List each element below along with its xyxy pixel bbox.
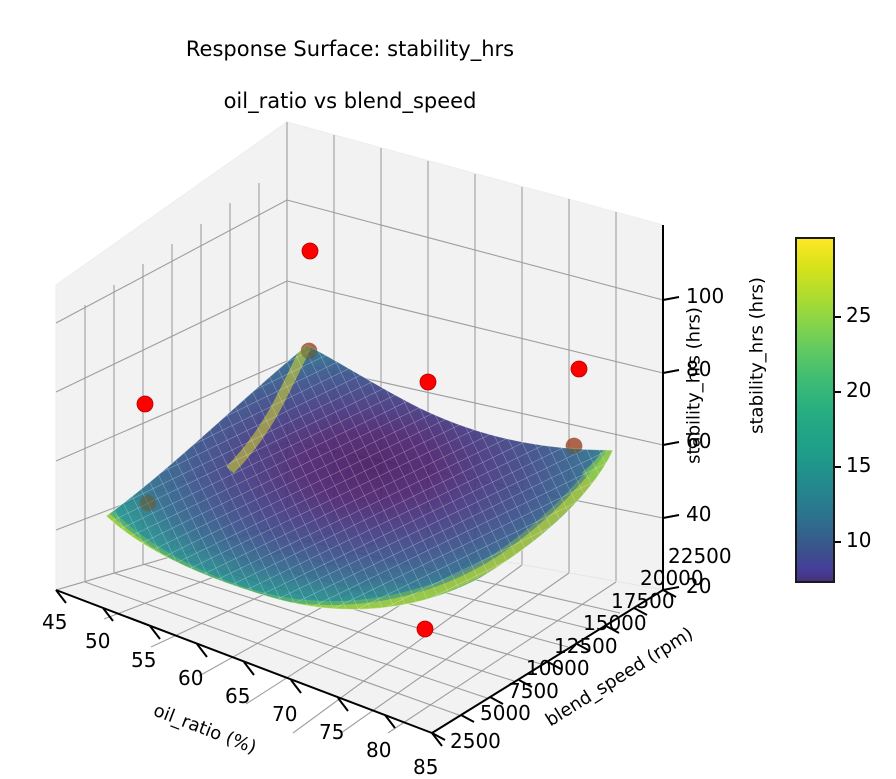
y-tick-label-7500: 7500 — [508, 681, 559, 701]
colorbar-tick-mark — [835, 391, 841, 393]
colorbar-ticks: 10152025 — [835, 237, 895, 583]
colorbar[interactable]: 10152025 — [795, 237, 835, 583]
y-tick-label-15000: 15000 — [583, 613, 647, 633]
colorbar-tick-label: 10 — [846, 529, 871, 551]
y-tick-label-2500: 2500 — [450, 731, 501, 751]
y-tick-label-5000: 5000 — [480, 703, 531, 723]
y-tick-label-20000: 20000 — [640, 568, 704, 588]
colorbar-tick-label: 20 — [846, 379, 871, 401]
y-tick-labels: 2500 5000 7500 10000 12500 15000 17500 2… — [0, 0, 700, 775]
y-tick-label-17500: 17500 — [611, 591, 675, 611]
y-tick-label-10000: 10000 — [526, 658, 590, 678]
colorbar-gradient — [795, 237, 835, 583]
y-tick-label-12500: 12500 — [554, 636, 618, 656]
colorbar-tick-label: 15 — [846, 454, 871, 476]
colorbar-label-text: stability_hrs (hrs) — [747, 251, 768, 461]
colorbar-tick-mark — [835, 466, 841, 468]
colorbar-tick-mark — [835, 316, 841, 318]
y-tick-label-22500: 22500 — [668, 546, 732, 566]
colorbar-tick-mark — [835, 541, 841, 543]
figure-canvas: Response Surface: stability_hrs oil_rati… — [0, 0, 896, 775]
colorbar-tick-label: 25 — [846, 304, 871, 326]
